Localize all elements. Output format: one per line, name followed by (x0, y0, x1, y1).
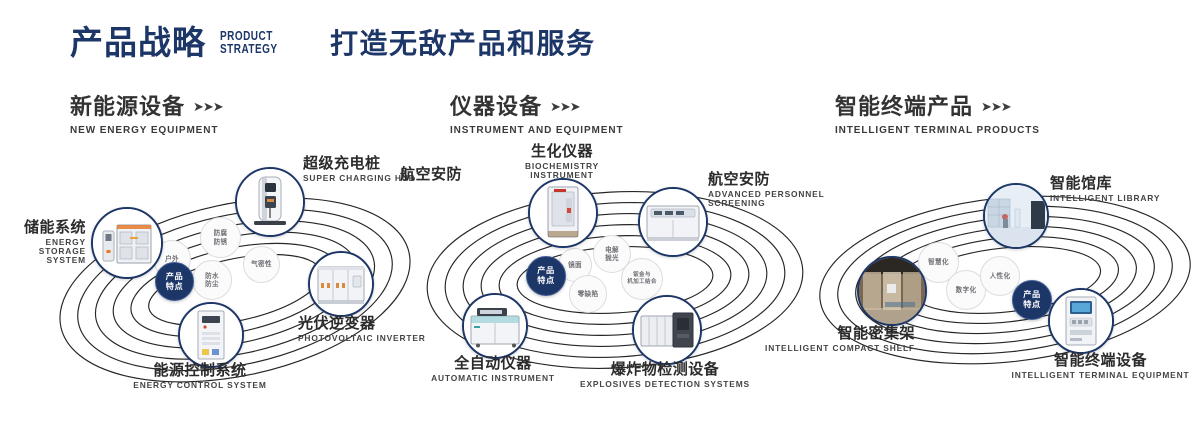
brand-title-en-line1: PRODUCT (220, 30, 278, 43)
device-image-charging-hub (237, 169, 303, 235)
feature-bubble-2: 防水 防尘 (192, 260, 232, 300)
caption-energy-control-system: 能源控制系统 ENERGY CONTROL SYSTEM (80, 362, 320, 390)
feature-bubble-line: 机加工结合 (627, 279, 656, 286)
headline: 打造无敌产品和服务 (330, 30, 596, 58)
device-image-pv-inverter (310, 253, 372, 315)
caption-cn: 能源控制系统 (80, 362, 320, 378)
feature-bubble-1: 防腐 防锈 (200, 217, 241, 258)
caption-cn: 全自动仪器 (414, 355, 572, 371)
feature-bubble-line: 镜面 (568, 261, 582, 269)
node-intelligent-library[interactable] (983, 183, 1049, 249)
caption-cn: 储能系统 (0, 219, 86, 235)
chevron-right-icon: ➤➤➤ (193, 101, 223, 115)
badge-line2: 特点 (1023, 300, 1040, 310)
caption-cn: 光伏逆变器 (298, 315, 428, 331)
section-title-en-2: INTELLIGENT TERMINAL PRODUCTS (835, 125, 1040, 136)
device-image-energy-control (180, 304, 242, 366)
caption-cn: 生化仪器 (498, 143, 626, 159)
feature-bubble-line: 防腐 (214, 229, 228, 237)
caption-cn: 智能密集架 (720, 325, 915, 341)
feature-bubble-line: 防锈 (214, 238, 228, 246)
section-title-text-0: 新能源设备 (70, 96, 185, 120)
caption-cn: 航空安防 (390, 166, 462, 182)
caption-cn: 智能终端设备 (998, 352, 1200, 368)
cluster-instrument: 镜面 电解 抛光 零缺陷 钣金与 机加工结合 产品 特点 航空安防 (420, 155, 820, 405)
cluster-new-energy: 户外 防腐 防锈 防水 防尘 气密性 产品 特点 (45, 155, 445, 405)
feature-bubble-3: 钣金与 机加工结合 (621, 258, 663, 300)
feature-bubble-line: 人性化 (990, 272, 1011, 280)
brand-title-cn: 产品战略 (70, 26, 206, 59)
feature-bubble-3: 气密性 (243, 246, 280, 283)
product-feature-badge: 产品 特点 (526, 256, 566, 296)
device-image-explosives-detection (634, 297, 700, 363)
caption-cn: 智能馆库 (1050, 175, 1180, 191)
feature-bubble-line: 防尘 (205, 280, 219, 288)
caption-automatic-instrument: 全自动仪器 AUTOMATIC INSTRUMENT (414, 355, 572, 383)
caption-aviation-security-left: 航空安防 (390, 166, 462, 185)
device-image-energy-storage (93, 209, 161, 277)
section-header-instrument: 仪器设备 ➤➤➤ INSTRUMENT AND EQUIPMENT (450, 96, 623, 136)
caption-en: ENERGY CONTROL SYSTEM (80, 381, 320, 390)
device-image-screening (640, 189, 706, 255)
feature-bubble-line: 零缺陷 (578, 290, 599, 298)
device-image-biochemistry (530, 180, 596, 246)
caption-cn: 爆炸物检测设备 (570, 361, 760, 377)
feature-bubble-line: 钣金与 (633, 272, 651, 279)
node-energy-control-system[interactable] (178, 302, 244, 368)
caption-photovoltaic-inverter: 光伏逆变器 PHOTOVOLTAIC INVERTER (298, 315, 428, 343)
brand-title-en-line2: STRATEGY (220, 43, 278, 56)
badge-line2: 特点 (537, 276, 554, 286)
feature-bubble-line: 防水 (205, 272, 219, 280)
caption-en: PHOTOVOLTAIC INVERTER (298, 334, 428, 343)
feature-bubble-line: 智慧化 (928, 258, 949, 266)
feature-bubble-line: 气密性 (251, 260, 272, 268)
node-energy-storage-system[interactable] (91, 207, 163, 279)
section-title-en-1: INSTRUMENT AND EQUIPMENT (450, 125, 623, 136)
section-title-text-1: 仪器设备 (450, 96, 542, 120)
node-automatic-instrument[interactable] (462, 293, 528, 359)
node-biochemistry-instrument[interactable] (528, 178, 598, 248)
caption-biochemistry-instrument: 生化仪器 BIOCHEMISTRY INSTRUMENT (498, 143, 626, 180)
feature-bubble-line: 数字化 (956, 286, 977, 294)
node-intelligent-compact-shelf[interactable] (857, 256, 927, 326)
caption-intelligent-compact-shelf: 智能密集架 INTELLIGENT COMPACT SHELF (720, 325, 915, 353)
caption-en: BIOCHEMISTRY INSTRUMENT (498, 162, 626, 180)
feature-bubble-2: 零缺陷 (569, 275, 607, 313)
caption-energy-storage-system: 储能系统 ENERGY STORAGE SYSTEM (0, 219, 86, 265)
section-title-text-2: 智能终端产品 (835, 96, 973, 120)
brand-title-en: PRODUCT STRATEGY (220, 30, 278, 59)
chevron-right-icon: ➤➤➤ (981, 101, 1011, 115)
node-advanced-personnel-screening[interactable] (638, 187, 708, 257)
node-explosives-detection[interactable] (632, 295, 702, 365)
section-title-cn-0: 新能源设备 ➤➤➤ (70, 96, 223, 120)
device-image-terminal (1050, 290, 1112, 352)
cluster-intelligent-terminal: 智慧化 数字化 人性化 产品 特点 (800, 160, 1200, 410)
section-header-intelligent-terminal: 智能终端产品 ➤➤➤ INTELLIGENT TERMINAL PRODUCTS (835, 96, 1040, 136)
node-photovoltaic-inverter[interactable] (308, 251, 374, 317)
product-feature-badge: 产品 特点 (1012, 280, 1052, 320)
chevron-right-icon: ➤➤➤ (550, 101, 580, 115)
caption-en: INTELLIGENT LIBRARY (1050, 194, 1180, 203)
caption-en: AUTOMATIC INSTRUMENT (414, 374, 572, 383)
caption-intelligent-terminal-equipment: 智能终端设备 INTELLIGENT TERMINAL EQUIPMENT (998, 352, 1200, 380)
caption-en: INTELLIGENT COMPACT SHELF (720, 344, 915, 353)
section-title-cn-1: 仪器设备 ➤➤➤ (450, 96, 623, 120)
caption-en: INTELLIGENT TERMINAL EQUIPMENT (998, 371, 1200, 380)
caption-intelligent-library: 智能馆库 INTELLIGENT LIBRARY (1050, 175, 1180, 203)
device-image-compact-shelf (859, 258, 925, 324)
brand-title: 产品战略 PRODUCT STRATEGY (70, 26, 292, 59)
feature-bubble-line: 抛光 (605, 254, 619, 262)
node-super-charging-hub[interactable] (235, 167, 305, 237)
section-title-cn-2: 智能终端产品 ➤➤➤ (835, 96, 1040, 120)
section-header-new-energy: 新能源设备 ➤➤➤ NEW ENERGY EQUIPMENT (70, 96, 223, 136)
caption-en: ENERGY STORAGE SYSTEM (0, 238, 86, 265)
device-image-library (985, 185, 1047, 247)
feature-bubble-line: 电解 (605, 246, 619, 254)
badge-line2: 特点 (166, 282, 183, 292)
device-image-automatic-instrument (464, 295, 526, 357)
caption-explosives-detection: 爆炸物检测设备 EXPLOSIVES DETECTION SYSTEMS (570, 361, 760, 389)
caption-en: EXPLOSIVES DETECTION SYSTEMS (570, 380, 760, 389)
node-intelligent-terminal-equipment[interactable] (1048, 288, 1114, 354)
slide-canvas: 产品战略 PRODUCT STRATEGY 打造无敌产品和服务 新能源设备 ➤➤… (0, 0, 1200, 422)
section-title-en-0: NEW ENERGY EQUIPMENT (70, 125, 223, 136)
